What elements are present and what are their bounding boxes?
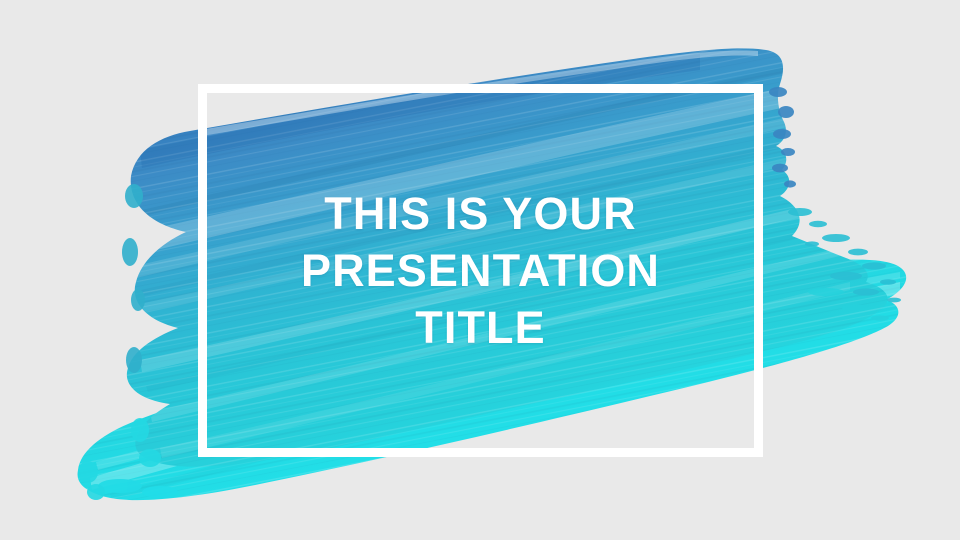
page-title: THIS IS YOUR PRESENTATION TITLE bbox=[271, 185, 691, 356]
title-block: THIS IS YOUR PRESENTATION TITLE bbox=[198, 84, 763, 457]
presentation-slide: THIS IS YOUR PRESENTATION TITLE bbox=[0, 0, 960, 540]
